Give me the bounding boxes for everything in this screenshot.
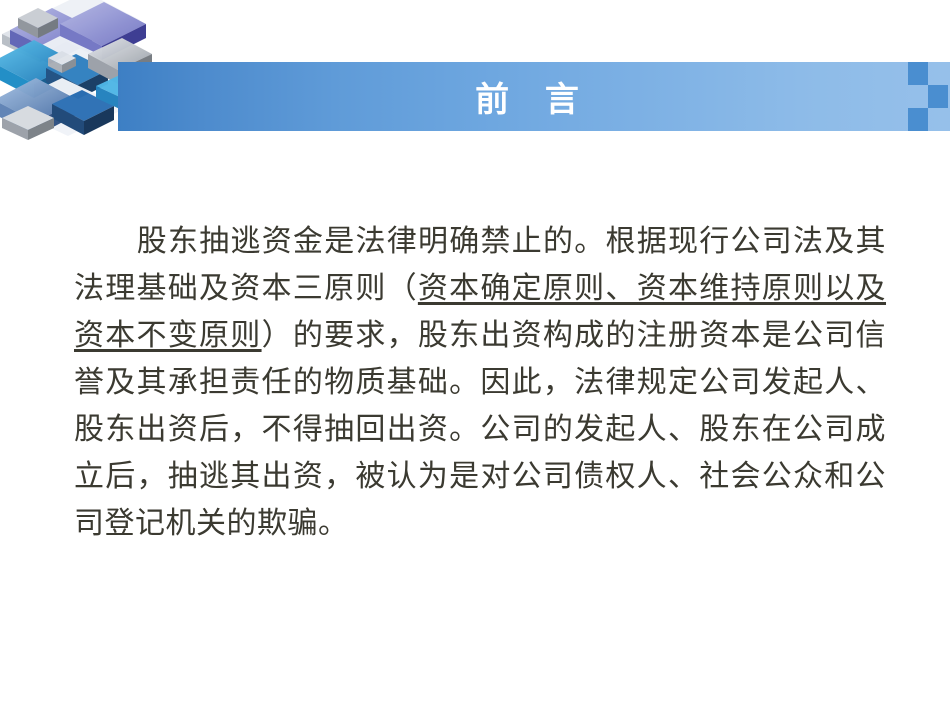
page-title: 前 言 bbox=[118, 62, 950, 131]
body-paragraph: 股东抽逃资金是法律明确禁止的。根据现行公司法及其法理基础及资本三原则（资本确定原… bbox=[74, 218, 886, 547]
slide-canvas: 前 言 股东抽逃资金是法律明确禁止的。根据现行公司法及其法理基础及资本三原则（资… bbox=[0, 0, 950, 713]
slide-title-bar: 前 言 bbox=[118, 62, 950, 131]
title-accent-square-2 bbox=[928, 85, 948, 108]
title-accent-square-1 bbox=[908, 62, 928, 85]
title-accent-square-3 bbox=[908, 108, 928, 131]
